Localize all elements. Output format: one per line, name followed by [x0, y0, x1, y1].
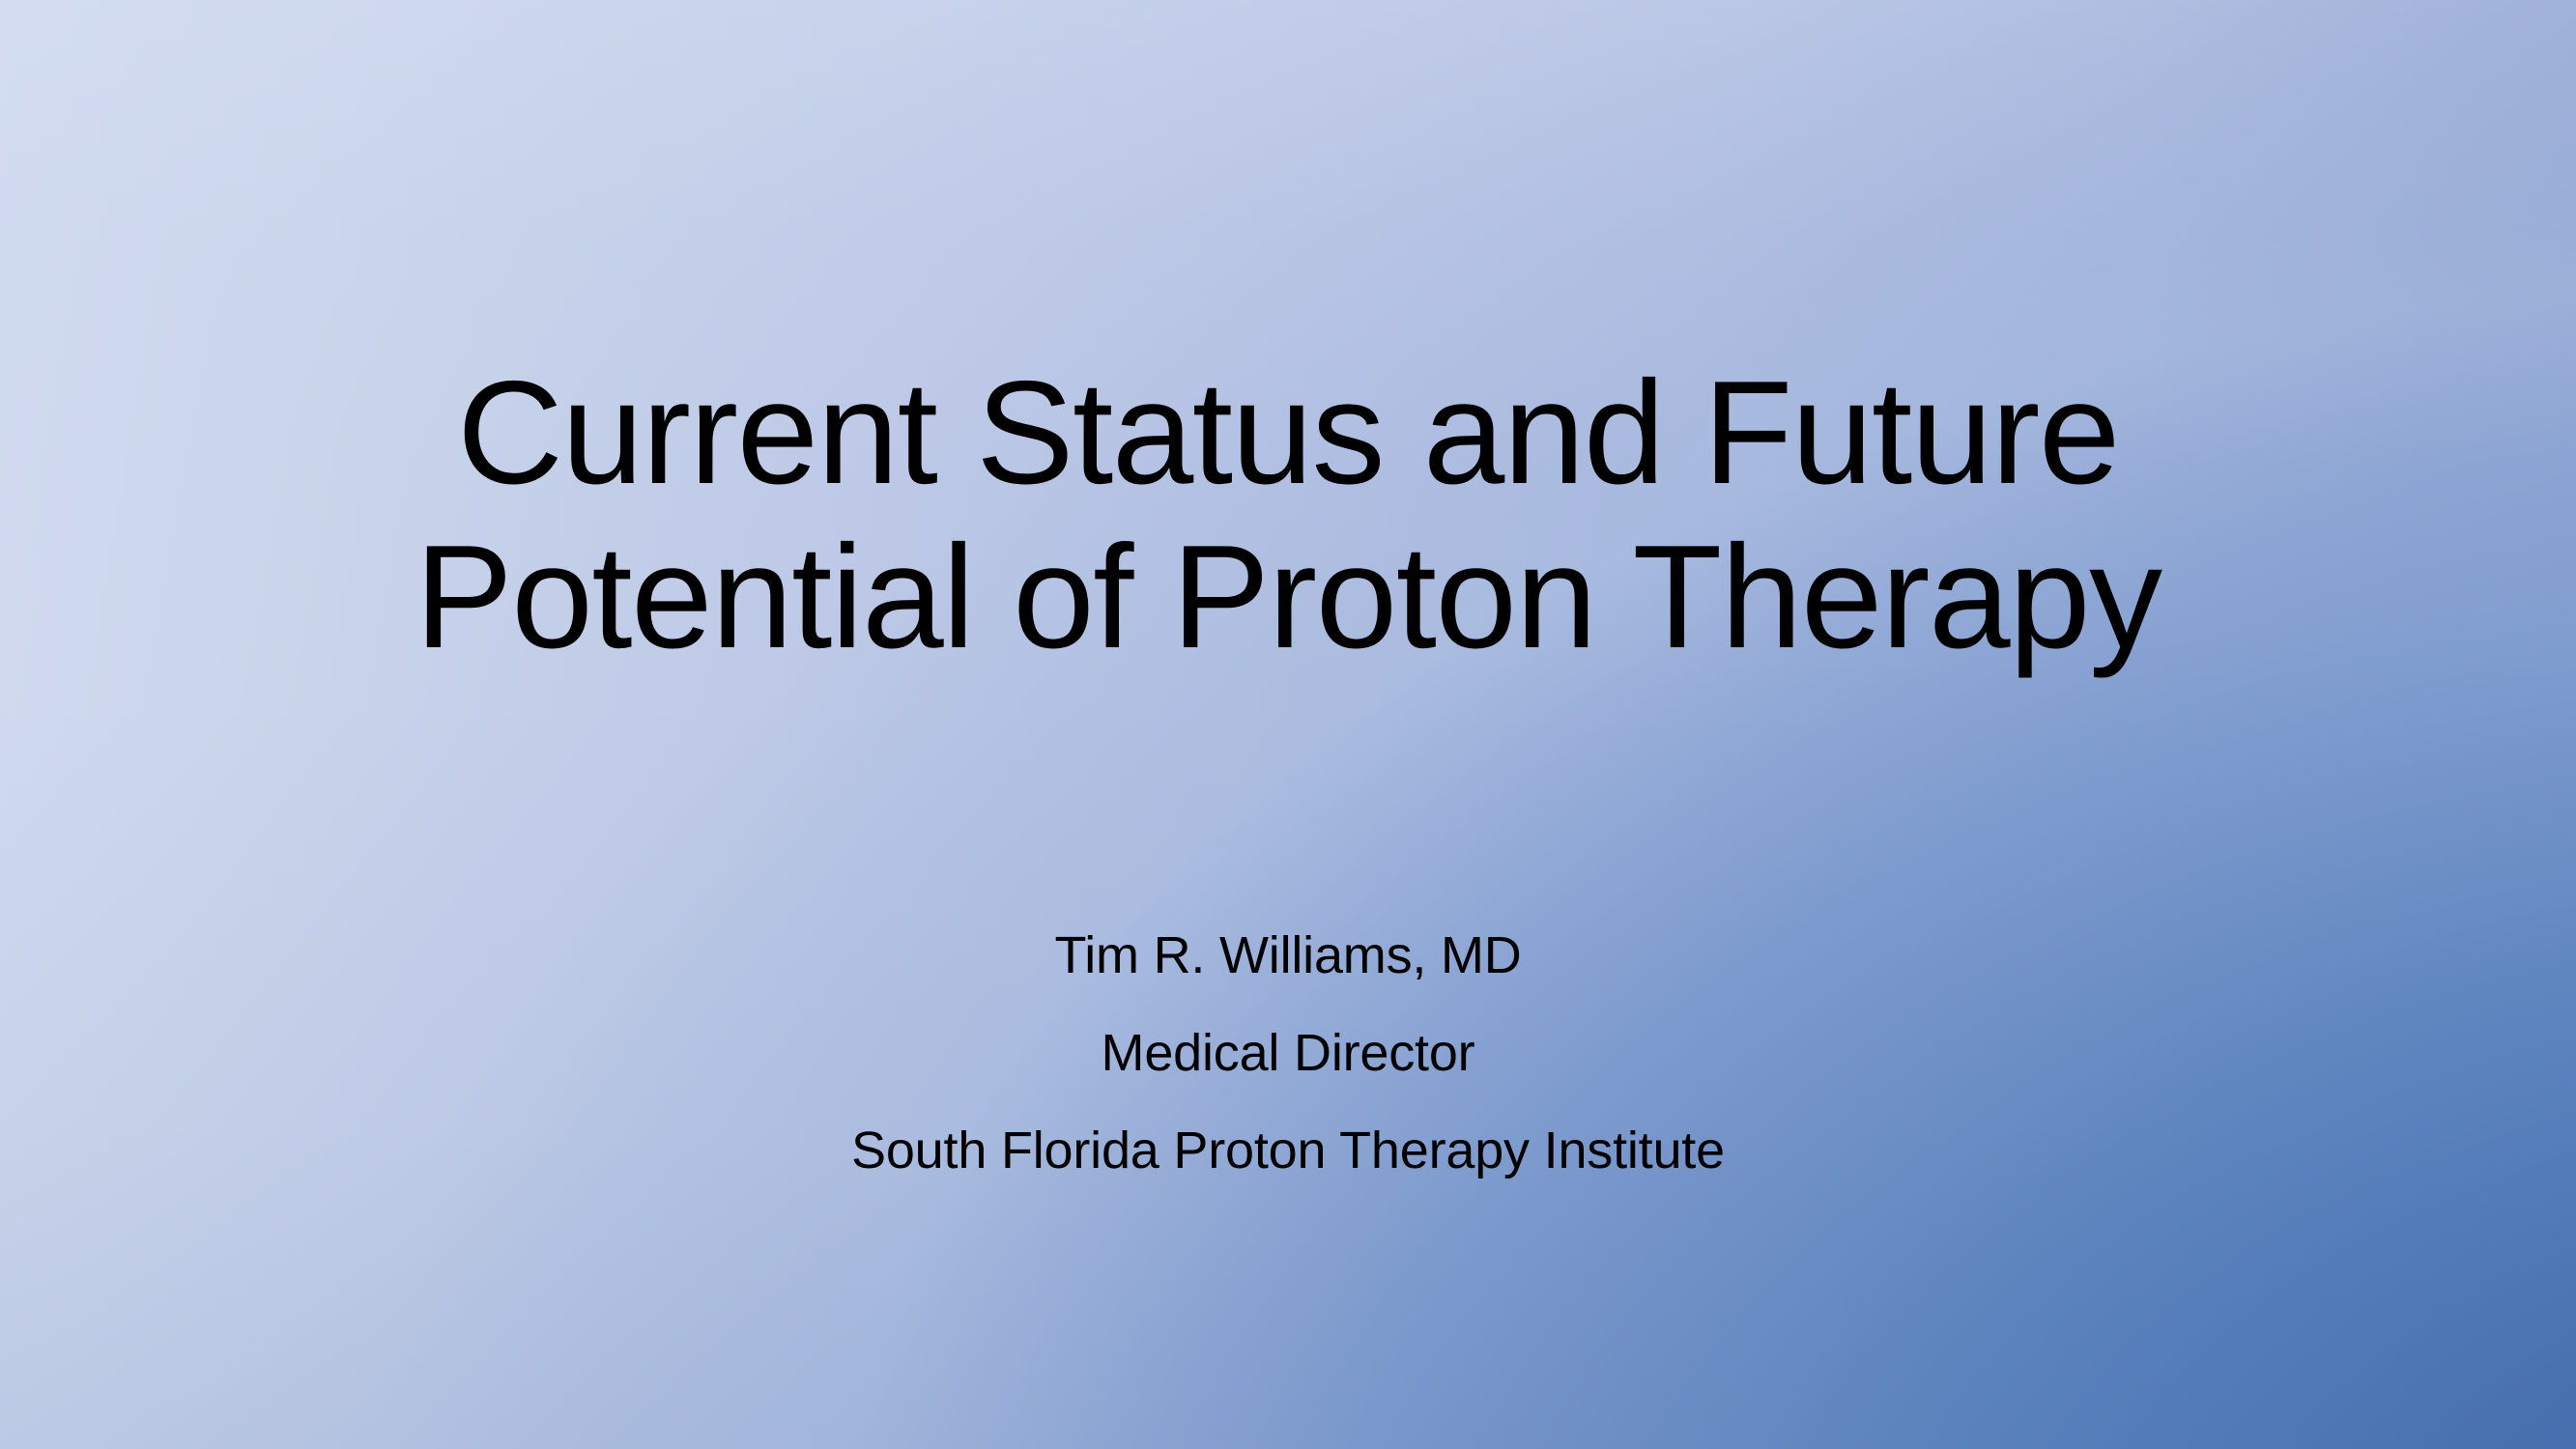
presentation-slide: Current Status and Future Potential of P… [0, 0, 2576, 1449]
title-line-2: Potential of Proton Therapy [0, 524, 2576, 670]
subtitle-presenter-role: Medical Director [0, 1027, 2576, 1079]
slide-title: Current Status and Future Potential of P… [0, 359, 2576, 670]
slide-content: Current Status and Future Potential of P… [0, 0, 2576, 1449]
subtitle-presenter-name: Tim R. Williams, MD [0, 929, 2576, 981]
title-line-1: Current Status and Future [0, 359, 2576, 506]
subtitle-organization: South Florida Proton Therapy Institute [0, 1124, 2576, 1177]
slide-subtitle: Tim R. Williams, MD Medical Director Sou… [0, 929, 2576, 1177]
